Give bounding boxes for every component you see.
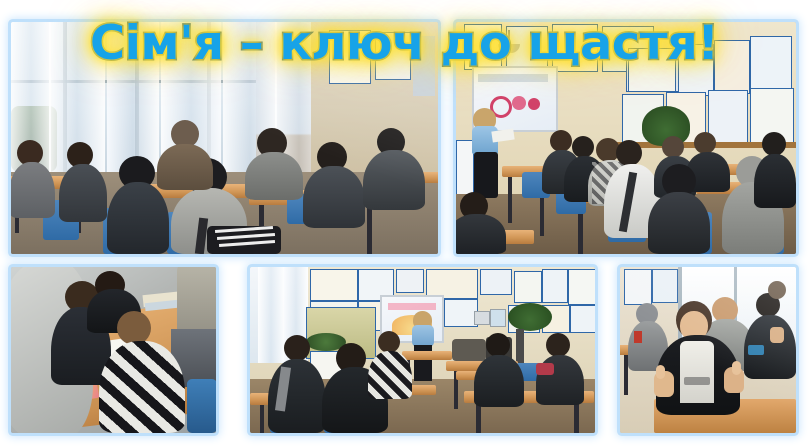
photo-collage: Сім'я – ключ до щастя!	[0, 0, 809, 448]
photo-top-left	[11, 22, 438, 254]
classroom-window-scene	[11, 22, 438, 254]
presentation-scene	[456, 22, 796, 254]
photo-top-right	[456, 22, 796, 254]
wide-classroom-scene	[250, 267, 595, 433]
students-thumbsup-scene	[620, 267, 796, 433]
group-work-scene	[11, 267, 216, 433]
photo-bottom-center	[250, 267, 595, 433]
photo-bottom-left	[11, 267, 216, 433]
photo-bottom-right	[620, 267, 796, 433]
